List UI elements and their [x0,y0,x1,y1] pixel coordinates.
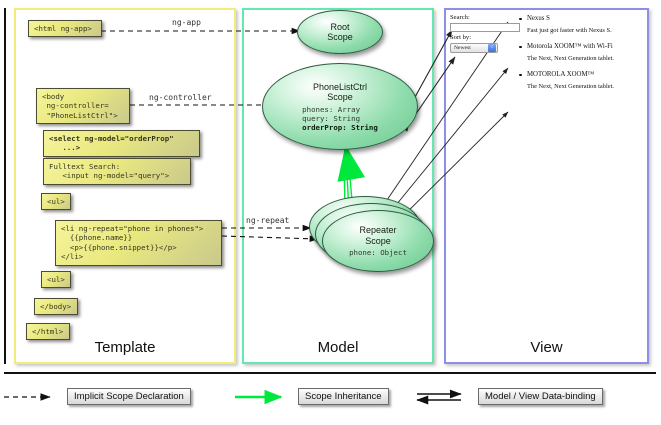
scope-phonelistctrl-title: PhoneListCtrl Scope [313,82,367,103]
code-box-li-repeat-tag: <li ng-repeat="phone in phones"> {{phone… [55,220,222,266]
scope-props-plain: phones: Array query: String [302,105,360,123]
scope-phonelistctrl: PhoneListCtrl Scope phones: Array query:… [262,63,418,150]
scope-root-title: Root Scope [327,22,353,43]
code-box-html-tag: <html ng-app> [28,20,102,37]
search-label: Search: [450,14,526,22]
green-arrow-icon [235,389,293,405]
ng-repeat-label: ng-repeat [246,216,289,225]
code-box-ul-close-tag: <ul> [41,271,71,288]
legend-data-binding: Model / View Data-binding [415,388,603,405]
chevron-down-icon: ↕ [488,44,496,52]
legend-implicit-scope-label: Implicit Scope Declaration [67,388,191,405]
sort-by-label: Sort by: [450,34,526,42]
search-input[interactable] [450,23,520,32]
dashed-arrow-icon [4,389,62,405]
list-item[interactable]: Motorola XOOM™ with Wi-Fi The Next, Next… [518,42,646,63]
legend-scope-inheritance-label: Scope Inheritance [298,388,389,405]
scope-phonelistctrl-props: phones: Array query: String orderProp: S… [302,105,378,132]
phone-snippet: The Next, Next Generation tablet. [518,54,646,63]
phone-snippet: The Next, Next Generation tablet. [518,82,646,91]
column-model: Model [242,8,434,364]
list-item[interactable]: Nexus S Fast just got faster with Nexus … [518,14,646,35]
list-item[interactable]: MOTOROLA XOOM™ The Next, Next Generation… [518,70,646,91]
code-box-fulltext-search: Fulltext Search: <input ng-model="query"… [43,158,191,185]
phone-snippet: Fast just got faster with Nexus S. [518,26,646,35]
scope-repeater-props: phone: Object [349,248,407,257]
scope-props-bold: orderProp: String [302,123,378,132]
scope-root: Root Scope [297,10,383,54]
legend-scope-inheritance: Scope Inheritance [235,388,389,405]
code-box-select-tag: <select ng-model="orderProp" ...> [43,130,200,157]
sort-by-value: Newest [454,45,471,51]
phone-name: MOTOROLA XOOM™ [518,70,646,79]
phone-name: Nexus S [518,14,646,23]
view-app-preview: Search: Sort by: Newest ↕ Nexus S Fast j… [450,14,646,114]
column-label-model: Model [244,339,432,356]
legend-data-binding-label: Model / View Data-binding [478,388,603,405]
double-arrow-icon [415,389,473,405]
figure-left-rule [4,8,6,364]
column-label-view: View [446,339,647,356]
legend-implicit-scope: Implicit Scope Declaration [4,388,191,405]
diagram-canvas: Template Model View [0,0,661,425]
scope-repeater-title: Repeater Scope [359,225,396,246]
code-box-body-close-tag: </body> [34,298,78,315]
code-box-ul-open-tag: <ul> [41,193,71,210]
sort-by-select[interactable]: Newest ↕ [450,43,498,53]
legend-divider [4,372,656,374]
code-box-body-tag: <body ng-controller= "PhoneListCtrl"> [36,88,130,124]
scope-repeater: Repeater Scope phone: Object [322,210,434,272]
ng-app-label: ng-app [172,18,201,27]
phone-name: Motorola XOOM™ with Wi-Fi [518,42,646,51]
view-search-form: Search: Sort by: Newest ↕ [450,14,526,53]
ng-controller-label: ng-controller [149,93,212,102]
column-label-template: Template [16,339,234,356]
phone-list: Nexus S Fast just got faster with Nexus … [518,14,646,98]
code-box-html-close-tag: </html> [26,323,70,340]
legend: Implicit Scope Declaration Scope Inherit… [4,372,656,422]
